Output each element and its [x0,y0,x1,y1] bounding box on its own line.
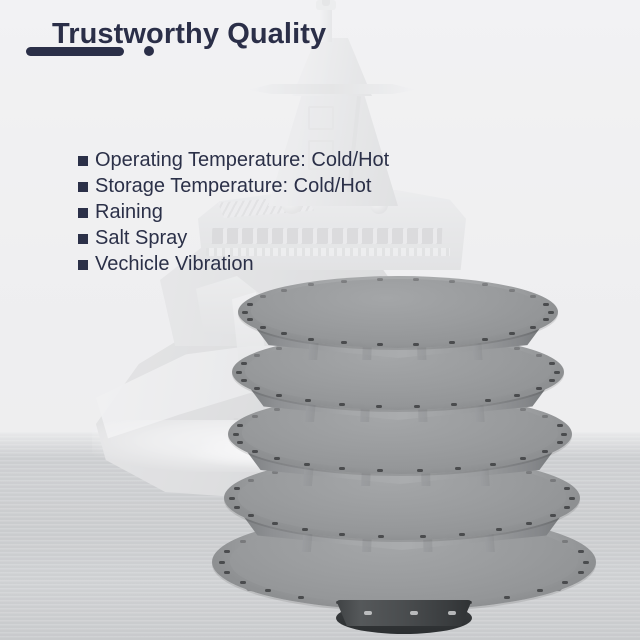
bolt-hole [247,318,253,321]
bolt-hole [377,343,383,346]
bolt-hole [377,278,383,281]
bullet-square-icon [78,260,88,270]
bolt-hole [509,332,515,335]
feature-item: Raining [78,200,389,225]
ship-mast-panel-upper [308,106,334,130]
feature-item-label: Salt Spray [95,226,187,251]
bolt-hole [413,278,419,281]
bolt-hole [543,303,549,306]
bolt-hole [281,289,287,292]
bolt-hole [449,280,455,283]
bolt-hole [260,326,266,329]
bolt-hole [530,326,536,329]
title-underline [26,46,154,56]
feature-item-label: Operating Temperature: Cold/Hot [95,148,389,173]
feature-item: Operating Temperature: Cold/Hot [78,148,389,173]
bolt-hole [413,343,419,346]
feature-item: Vechicle Vibration [78,252,389,277]
bolt-hole [308,338,314,341]
mount-bolt [410,611,418,615]
bolt-hole [341,341,347,344]
title-underline-dot [144,46,154,56]
bolt-hole [543,318,549,321]
bolt-hole [308,283,314,286]
mount-bolt [364,611,372,615]
ship-mast-knob [322,0,330,6]
feature-item-label: Storage Temperature: Cold/Hot [95,174,371,199]
bullet-square-icon [78,156,88,166]
bolt-hole [482,283,488,286]
bolt-ring [226,262,622,640]
feature-item: Salt Spray [78,226,389,251]
feature-list: Operating Temperature: Cold/HotStorage T… [78,148,389,277]
bullet-square-icon [78,182,88,192]
feature-item-label: Raining [95,200,163,225]
bolt-hole [530,295,536,298]
bolt-hole [281,332,287,335]
feature-item: Storage Temperature: Cold/Hot [78,174,389,199]
bolt-hole [260,295,266,298]
bolt-hole [548,311,554,314]
bolt-hole [341,280,347,283]
bolt-hole [242,311,248,314]
product-image-flange-stack [226,262,622,640]
bolt-hole [219,561,225,564]
bolt-hole [509,289,515,292]
feature-item-label: Vechicle Vibration [95,252,254,277]
title-underline-bar [26,47,124,56]
bullet-square-icon [78,208,88,218]
bolt-hole [449,341,455,344]
ship-yardarm [248,84,416,94]
poster-canvas: Trustworthy Quality Operating Temperatur… [0,0,640,640]
bolt-hole [482,338,488,341]
mount-bolt [448,611,456,615]
bolt-hole [247,303,253,306]
bullet-square-icon [78,234,88,244]
